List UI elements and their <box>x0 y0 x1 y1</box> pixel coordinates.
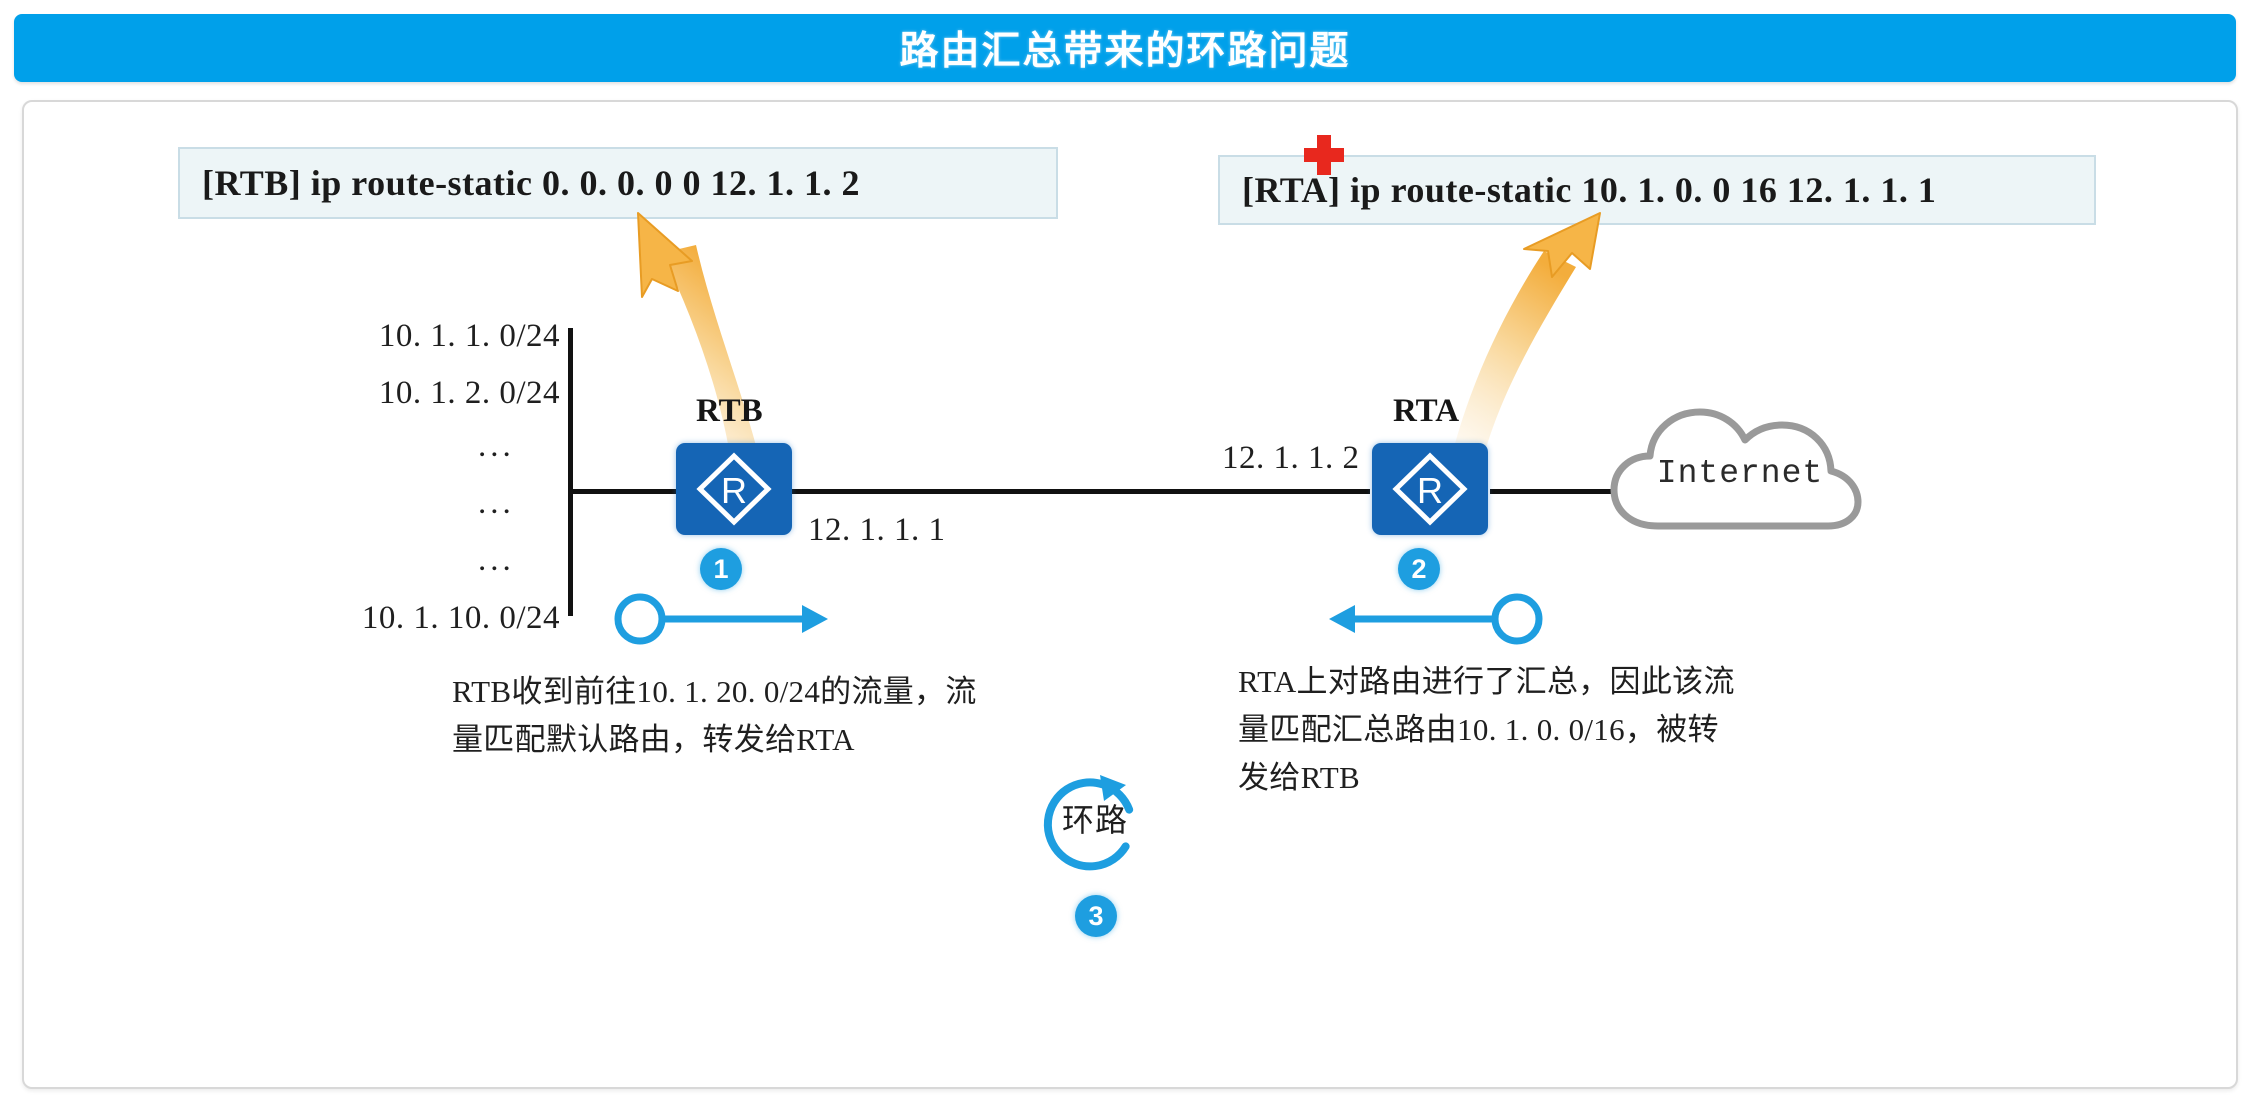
interface-ip-rtb: 12. 1. 1. 1 <box>808 512 946 549</box>
link-rtb-to-rta <box>790 489 1370 494</box>
step-badge-2: 2 <box>1398 548 1440 590</box>
link-lan-to-rtb <box>568 489 678 494</box>
traffic-flow-arrow-rightward-icon <box>612 585 832 653</box>
diagram-canvas: 路由汇总带来的环路问题 [RTB] ip route-static 0. 0. … <box>0 0 2253 1097</box>
router-rta-label: RTA <box>1393 393 1459 430</box>
link-rta-to-internet <box>1490 489 1615 494</box>
description-left: RTB收到前往10. 1. 20. 0/24的流量，流量匹配默认路由，转发给RT… <box>452 668 982 764</box>
traffic-flow-arrow-leftward-icon <box>1325 585 1545 653</box>
svg-text:R: R <box>1417 470 1443 511</box>
network-label-1: 10. 1. 2. 0/24 <box>338 375 560 412</box>
svg-text:R: R <box>721 470 747 511</box>
title-banner: 路由汇总带来的环路问题 <box>14 14 2236 82</box>
router-icon: R <box>1390 451 1470 527</box>
network-label-0: 10. 1. 1. 0/24 <box>338 318 560 355</box>
description-right: RTA上对路由进行了汇总，因此该流量匹配汇总路由10. 1. 0. 0/16，被… <box>1238 658 1748 802</box>
page-title: 路由汇总带来的环路问题 <box>899 20 1350 76</box>
network-label-3: ... <box>478 485 515 522</box>
diagram-panel <box>22 100 2238 1089</box>
lan-bus-bar <box>568 328 573 616</box>
network-label-4: ... <box>478 542 515 579</box>
router-rtb-label: RTB <box>696 393 763 430</box>
internet-cloud-label: Internet <box>1655 455 1825 492</box>
network-label-2: ... <box>478 428 515 465</box>
loop-label: 环路 <box>1040 795 1150 841</box>
red-cross-icon <box>1302 133 1346 177</box>
router-rta[interactable]: R <box>1372 443 1488 535</box>
router-icon: R <box>694 451 774 527</box>
config-box-rtb-text: [RTB] ip route-static 0. 0. 0. 0 0 12. 1… <box>202 162 860 204</box>
step-badge-1: 1 <box>700 548 742 590</box>
step-badge-3: 3 <box>1075 895 1117 937</box>
router-rtb[interactable]: R <box>676 443 792 535</box>
network-label-5: 10. 1. 10. 0/24 <box>330 600 560 637</box>
interface-ip-rta: 12. 1. 1. 2 <box>1222 440 1360 477</box>
